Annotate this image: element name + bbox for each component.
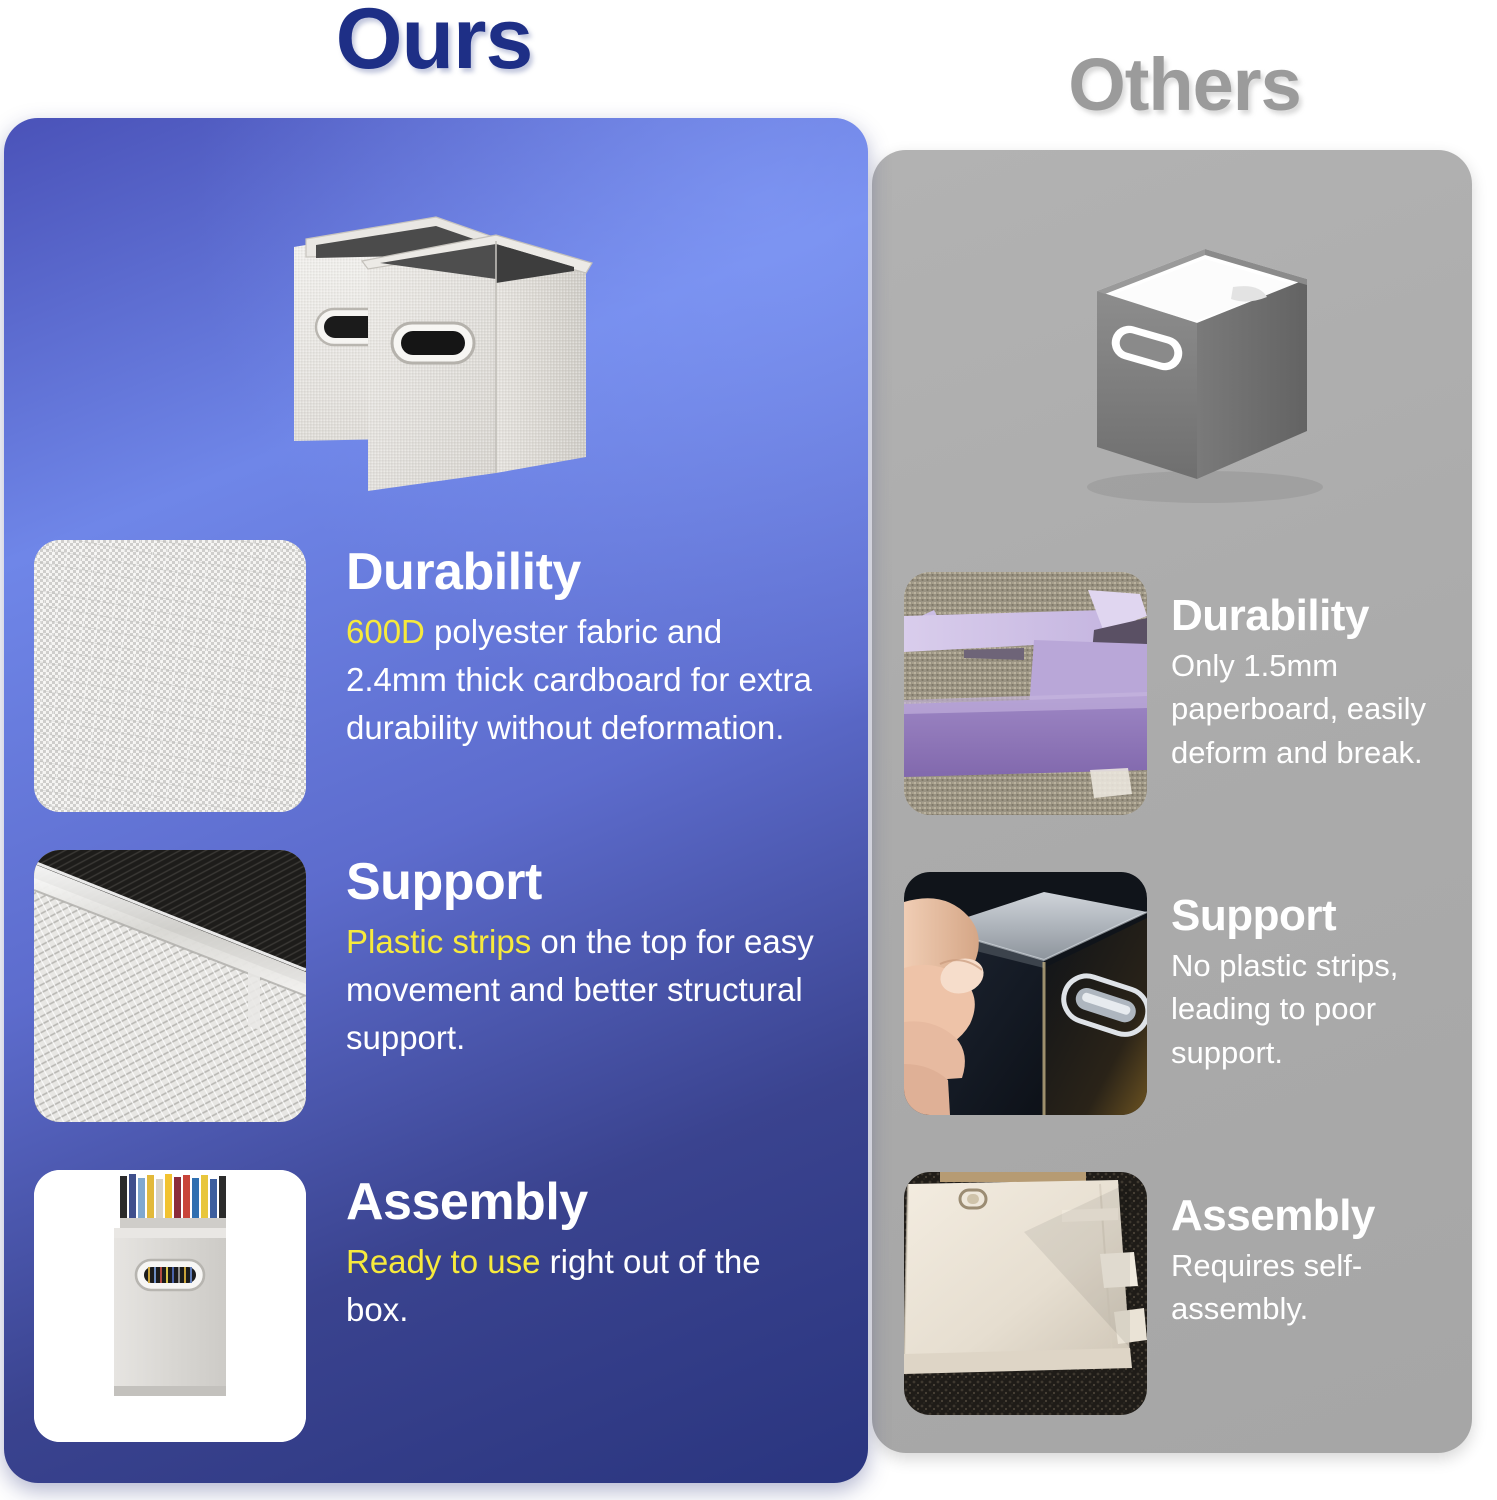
thumb-fabric-weave-closeup [34, 540, 306, 812]
feature-text-others-support: Support No plastic strips, leading to po… [1171, 872, 1491, 1074]
feature-title: Assembly [346, 1176, 814, 1228]
column-title-others: Others [872, 48, 1497, 122]
feature-title: Support [346, 856, 814, 908]
feature-body: Requires self-assembly. [1171, 1244, 1491, 1331]
feature-text-ours-durability: Durability 600D polyester fabric and 2.4… [346, 540, 814, 752]
feature-row-ours-support: Support Plastic strips on the top for ea… [34, 850, 814, 1122]
thumb-plastic-strip-edge-closeup [34, 850, 306, 1122]
feature-title: Durability [346, 546, 814, 598]
feature-title: Assembly [1171, 1194, 1491, 1238]
feature-text-others-assembly: Assembly Requires self-assembly. [1171, 1172, 1491, 1331]
feature-body: Plastic strips on the top for easy movem… [346, 918, 814, 1062]
feature-row-ours-durability: Durability 600D polyester fabric and 2.4… [34, 540, 814, 812]
thumb-deformed-purple-paperboard-box [904, 572, 1147, 815]
feature-text-ours-assembly: Assembly Ready to use right out of the b… [346, 1170, 814, 1334]
feature-body: Only 1.5mm paperboard, easily deform and… [1171, 644, 1491, 774]
column-title-ours: Ours [0, 0, 868, 82]
hero-image-others [1045, 235, 1355, 515]
feature-text-others-durability: Durability Only 1.5mm paperboard, easily… [1171, 572, 1491, 774]
feature-text-ours-support: Support Plastic strips on the top for ea… [346, 850, 814, 1062]
feature-title: Support [1171, 894, 1491, 938]
feature-row-others-support: Support No plastic strips, leading to po… [904, 872, 1491, 1115]
feature-row-others-durability: Durability Only 1.5mm paperboard, easily… [904, 572, 1491, 815]
feature-row-ours-assembly: Assembly Ready to use right out of the b… [34, 1170, 814, 1442]
feature-row-others-assembly: Assembly Requires self-assembly. [904, 1172, 1491, 1415]
feature-highlight: Plastic strips [346, 923, 531, 960]
hero-image-ours [250, 205, 640, 505]
feature-title: Durability [1171, 594, 1491, 638]
feature-body: Ready to use right out of the box. [346, 1238, 814, 1334]
feature-highlight: 600D [346, 613, 425, 650]
comparison-infographic: Ours Others [0, 0, 1497, 1500]
feature-highlight: Ready to use [346, 1243, 540, 1280]
thumb-bin-with-hanging-files [34, 1170, 306, 1442]
feature-body: 600D polyester fabric and 2.4mm thick ca… [346, 608, 814, 752]
thumb-flat-pack-cardboard-sheet [904, 1172, 1147, 1415]
thumb-hand-gripping-dark-box-corner [904, 872, 1147, 1115]
feature-body: No plastic strips, leading to poor suppo… [1171, 944, 1491, 1074]
